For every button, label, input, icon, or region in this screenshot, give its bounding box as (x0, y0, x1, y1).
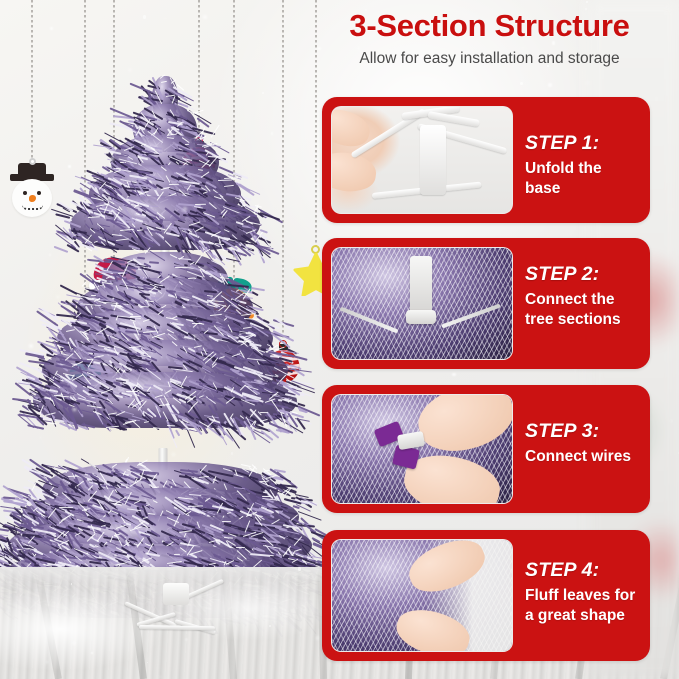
photo-unfold-base (332, 107, 512, 213)
step-4-title: STEP 4: (525, 560, 640, 580)
step-card-3[interactable]: STEP 3: Connect wires (322, 385, 650, 513)
page-title: 3-Section Structure (300, 8, 679, 44)
step-4-thumbnail (331, 539, 513, 652)
photo-connect-wires (332, 395, 512, 503)
instruction-panel: 3-Section Structure Allow for easy insta… (300, 0, 679, 679)
step-1-description: Unfold the base (525, 159, 640, 197)
hand (411, 394, 513, 461)
tree-stand (117, 583, 237, 641)
step-2-thumbnail (331, 247, 513, 360)
photo-connect-sections (332, 248, 512, 359)
product-infographic: 3-Section Structure Allow for easy insta… (0, 0, 679, 679)
step-2-description: Connect the tree sections (525, 290, 640, 328)
step-4-text: STEP 4: Fluff leaves for a great shape (525, 560, 640, 625)
step-4-description: Fluff leaves for a great shape (525, 586, 640, 624)
step-1-text: STEP 1: Unfold the base (525, 133, 640, 198)
step-3-text: STEP 3: Connect wires (525, 421, 640, 467)
tree-top-section-tier (70, 196, 260, 250)
step-3-title: STEP 3: (525, 421, 640, 441)
step-card-2[interactable]: STEP 2: Connect the tree sections (322, 238, 650, 369)
tree-middle-section-tier (33, 372, 297, 428)
step-1-thumbnail (331, 106, 513, 214)
stand-leg (139, 625, 215, 630)
floor-plank-line (34, 568, 62, 679)
step-2-title: STEP 2: (525, 264, 640, 284)
step-1-title: STEP 1: (525, 133, 640, 153)
stand-hub (163, 583, 189, 605)
step-card-1[interactable]: STEP 1: Unfold the base (322, 97, 650, 223)
photo-fluff-leaves (332, 540, 512, 651)
step-card-4[interactable]: STEP 4: Fluff leaves for a great shape (322, 530, 650, 661)
step-3-description: Connect wires (525, 447, 640, 466)
step-3-thumbnail (331, 394, 513, 504)
step-2-text: STEP 2: Connect the tree sections (525, 264, 640, 329)
page-subtitle: Allow for easy installation and storage (300, 50, 679, 68)
